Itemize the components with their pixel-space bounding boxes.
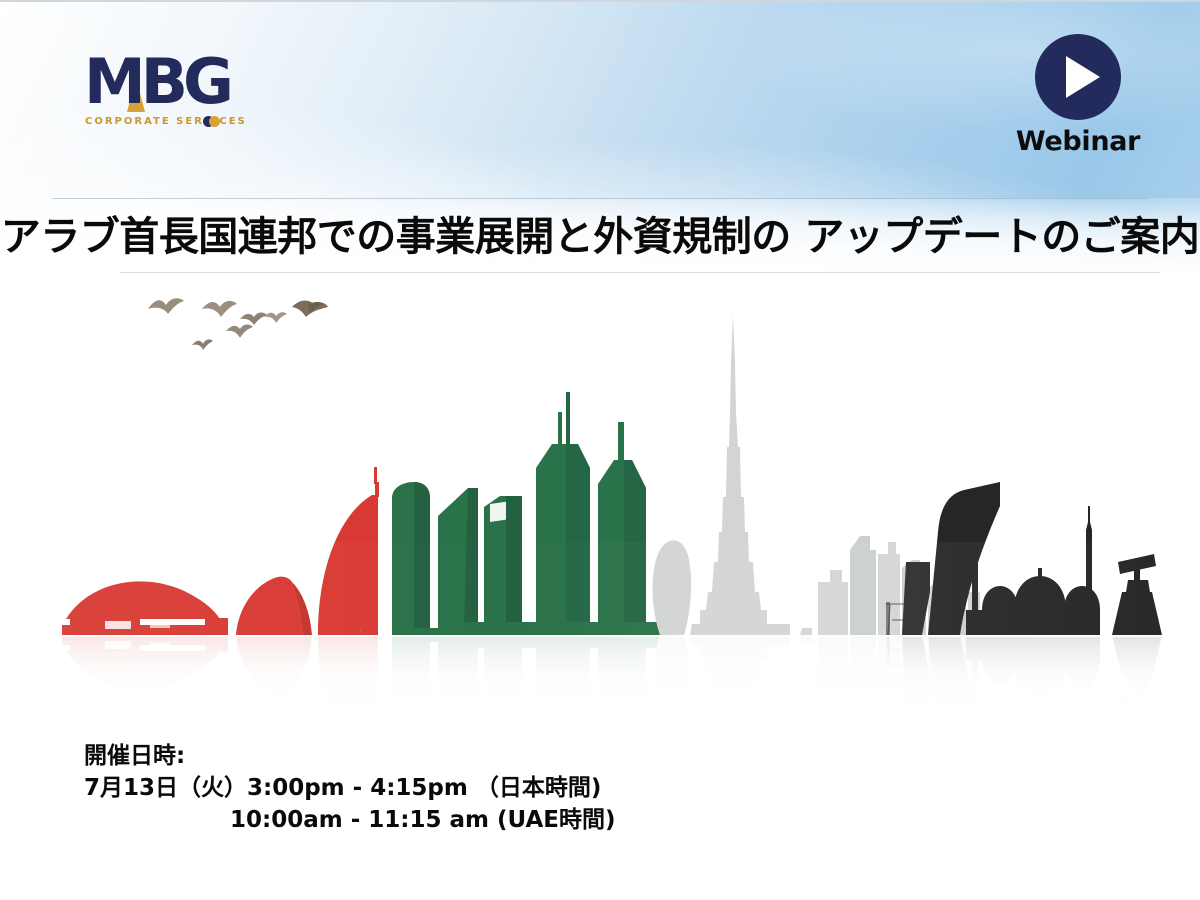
header-divider-top — [52, 198, 1148, 199]
skyline-ground-line — [0, 635, 1200, 637]
event-datetime-heading: 開催日時: — [84, 740, 615, 772]
event-time-jst: 7月13日（火）3:00pm - 4:15pm （日本時間) — [84, 772, 615, 804]
play-icon — [1035, 34, 1121, 120]
page-title: アラブ首長国連邦での事業展開と外資規制の アップデートのご案内 — [0, 210, 1200, 264]
logo-wordmark: MBG — [84, 50, 234, 114]
uae-skyline-silhouette — [0, 292, 1200, 712]
logo-letters: MBG — [84, 45, 229, 118]
event-datetime-block: 開催日時: 7月13日（火）3:00pm - 4:15pm （日本時間) 10:… — [84, 740, 615, 836]
mbg-logo: MBG CORPORATE SERVICES — [84, 50, 234, 136]
webinar-label: Webinar — [1013, 126, 1143, 157]
webinar-poster: MBG CORPORATE SERVICES Webinar アラブ首長国連邦で… — [0, 0, 1200, 900]
webinar-badge: Webinar — [1013, 34, 1143, 157]
header-divider-bottom — [120, 272, 1160, 273]
play-triangle-glyph — [1066, 56, 1100, 98]
event-time-uae: 10:00am - 11:15 am (UAE時間) — [84, 804, 615, 836]
